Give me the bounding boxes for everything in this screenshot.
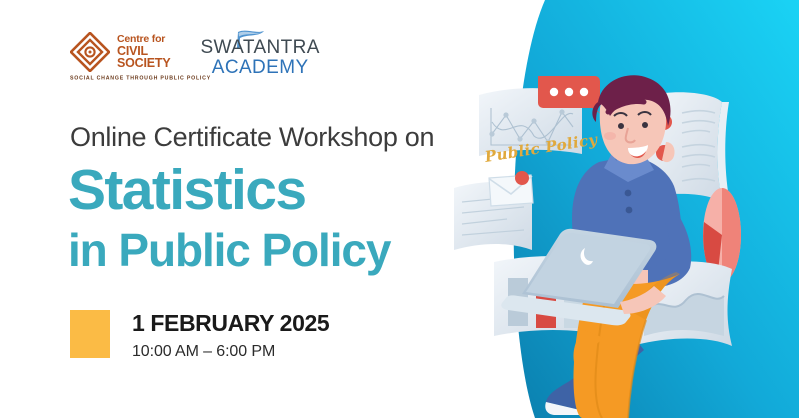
envelope-panel [454, 171, 533, 250]
workshop-kicker: Online Certificate Workshop on [70, 122, 434, 153]
title-line-1: Statistics [68, 162, 390, 219]
page-title: Statistics in Public Policy [68, 162, 390, 273]
swatantra-line-2: ACADEMY [212, 58, 309, 78]
concentric-diamond-icon [70, 32, 110, 72]
event-date: 1 FEBRUARY 2025 [132, 311, 329, 337]
date-color-swatch [70, 310, 110, 358]
man-with-laptop-illustration [432, 50, 799, 418]
swatantra-line-1: SWATANTRA [200, 38, 319, 57]
ccs-tagline: SOCIAL CHANGE THROUGH PUBLIC POLICY [70, 75, 211, 81]
ccs-line-3: SOCIETY [117, 57, 170, 70]
event-time: 10:00 AM – 6:00 PM [132, 343, 329, 361]
title-line-2: in Public Policy [68, 227, 390, 273]
ccs-logo: Centre for CIVIL SOCIETY SOCIAL CHANGE T… [70, 32, 170, 79]
logo-row: Centre for CIVIL SOCIETY SOCIAL CHANGE T… [70, 32, 320, 79]
swatantra-logo: SWATANTRA ACADEMY [200, 32, 319, 78]
ccs-line-1: Centre for [117, 34, 170, 45]
event-date-block: 1 FEBRUARY 2025 10:00 AM – 6:00 PM [70, 310, 329, 361]
poster-canvas: Centre for CIVIL SOCIETY SOCIAL CHANGE T… [0, 0, 799, 418]
